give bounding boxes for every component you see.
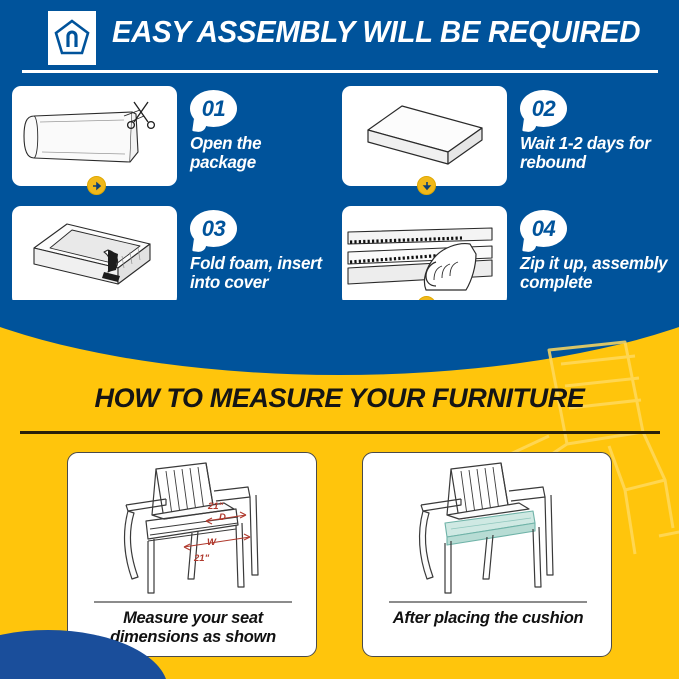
measure-cards: 21" D W 21" Measure your seat dimensions… bbox=[0, 452, 679, 657]
measure-card-1-divider bbox=[94, 601, 292, 603]
chair-with-cushion-icon bbox=[363, 457, 612, 600]
svg-text:W: W bbox=[207, 537, 217, 548]
measure-card-cushion: After placing the cushion bbox=[362, 452, 612, 657]
step-02-number: 02 bbox=[520, 90, 567, 127]
assembly-steps: 01 Open the package bbox=[0, 86, 679, 316]
step-03-illustration bbox=[12, 206, 177, 306]
measure-title: HOW TO MEASURE YOUR FURNITURE bbox=[0, 383, 679, 414]
step-03: 03 Fold foam, insert into cover bbox=[12, 206, 342, 314]
step-01-label: Open the package bbox=[190, 134, 337, 172]
measure-section: HOW TO MEASURE YOUR FURNITURE bbox=[0, 300, 679, 679]
step-04-illustration bbox=[342, 206, 507, 306]
svg-text:21": 21" bbox=[207, 501, 224, 512]
measure-card-2-caption: After placing the cushion bbox=[363, 609, 612, 628]
assembly-section: EASY ASSEMBLY WILL BE REQUIRED bbox=[0, 0, 679, 345]
step-02-illustration bbox=[342, 86, 507, 186]
step-03-label: Fold foam, insert into cover bbox=[190, 254, 337, 292]
step-01-number: 01 bbox=[190, 90, 237, 127]
header-title: EASY ASSEMBLY WILL BE REQUIRED bbox=[112, 15, 640, 50]
step-04-text: 04 Zip it up, assembly complete bbox=[520, 210, 672, 292]
house-pentagon-logo-icon bbox=[48, 11, 96, 65]
step-03-number: 03 bbox=[190, 210, 237, 247]
measure-divider bbox=[20, 431, 660, 434]
step-01-arrow-right-badge bbox=[87, 176, 106, 195]
step-04: 04 Zip it up, assembly complete bbox=[342, 206, 672, 314]
step-04-number: 04 bbox=[520, 210, 567, 247]
measure-card-dimensions: 21" D W 21" Measure your seat dimensions… bbox=[67, 452, 317, 657]
step-02-arrow-down-badge bbox=[417, 176, 436, 195]
infographic-page: EASY ASSEMBLY WILL BE REQUIRED bbox=[0, 0, 679, 679]
chair-with-dimension-callouts-icon: 21" D W 21" bbox=[68, 457, 317, 600]
step-04-label: Zip it up, assembly complete bbox=[520, 254, 667, 292]
step-01-text: 01 Open the package bbox=[190, 90, 342, 172]
step-02-text: 02 Wait 1-2 days for rebound bbox=[520, 90, 672, 172]
step-01-illustration bbox=[12, 86, 177, 186]
step-02-label: Wait 1-2 days for rebound bbox=[520, 134, 667, 172]
assembly-header: EASY ASSEMBLY WILL BE REQUIRED bbox=[0, 0, 679, 82]
step-03-text: 03 Fold foam, insert into cover bbox=[190, 210, 342, 292]
step-02: 02 Wait 1-2 days for rebound bbox=[342, 86, 672, 194]
step-01: 01 Open the package bbox=[12, 86, 342, 194]
svg-text:D: D bbox=[219, 512, 226, 523]
header-divider bbox=[22, 70, 658, 73]
svg-text:21": 21" bbox=[193, 553, 210, 564]
measure-card-2-divider bbox=[389, 601, 587, 603]
